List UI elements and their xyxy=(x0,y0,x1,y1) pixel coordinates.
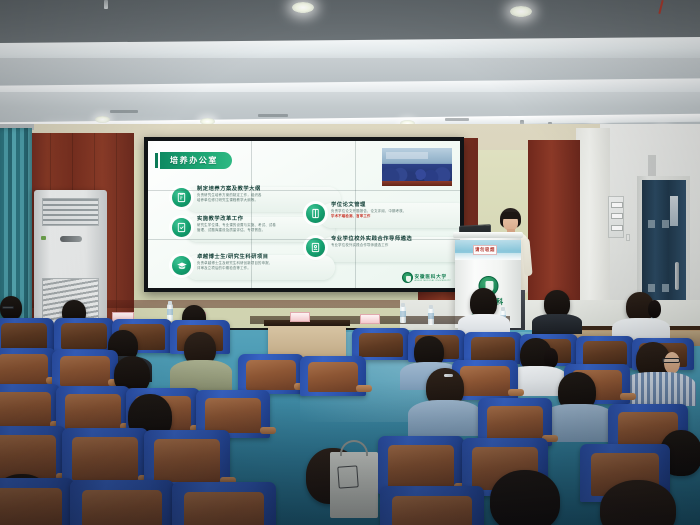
door-plate xyxy=(648,220,655,228)
auditorium-seat[interactable] xyxy=(0,348,56,388)
audience-shoulders xyxy=(620,372,696,406)
ceiling-vent xyxy=(110,110,138,113)
seat-pad xyxy=(0,488,62,525)
bullet-heading: 卓越博士生/研究生科研项目 xyxy=(197,254,272,261)
ac-top-grille xyxy=(42,198,99,226)
seat-pad xyxy=(184,492,263,525)
door-plate xyxy=(662,284,669,292)
bullet-subline-highlight: 学术不端检测、盲审工作 xyxy=(331,214,406,219)
auditorium-seat[interactable] xyxy=(352,328,410,360)
audience-shoulders xyxy=(170,360,232,390)
lecture-hall-photo: 培养办公室 xyxy=(0,0,700,525)
audience-shoulders xyxy=(532,314,582,334)
bullet-text: 实施教学改革工作 研究生学位课、专业课的设置与实施、考试、试卷 管理、试题库建设… xyxy=(197,215,276,232)
university-emblem-icon xyxy=(402,272,413,283)
seat-pad xyxy=(0,435,56,478)
seat-pad xyxy=(60,356,110,386)
bag-logo xyxy=(337,465,358,488)
clipboard-pen-icon xyxy=(172,188,191,207)
seat-pad xyxy=(154,439,219,482)
bullet-subline: 管理、试题库建设及质量评估、专项督查。 xyxy=(197,228,276,233)
audience-shoulders xyxy=(408,400,482,436)
hair-clip xyxy=(444,374,453,377)
logo-name-cn: 安徽医科大学 xyxy=(415,274,451,280)
ceiling-vent xyxy=(258,114,288,117)
thesis-book-icon xyxy=(306,204,325,223)
slide-university-logo: 安徽医科大学 ANHUI MEDICAL UNIVERSITY xyxy=(402,272,451,283)
seat-pad xyxy=(471,337,515,361)
led-video-wall[interactable]: 培养办公室 xyxy=(144,137,464,292)
seat-pad xyxy=(0,392,51,428)
presenter-bangs xyxy=(501,212,520,219)
seat-armrest xyxy=(260,427,276,434)
table-tent-card xyxy=(290,312,310,322)
bullet-text: 专业学位校外实践合作导师遴选 专业学位校外实践合作导师遴选工作 xyxy=(331,235,412,248)
seat-pad xyxy=(583,341,627,365)
seat-pad xyxy=(61,323,107,348)
table-tent-card xyxy=(360,314,380,324)
document-check-icon xyxy=(172,218,191,237)
breaker-row xyxy=(611,202,623,208)
seat-pad xyxy=(308,362,358,392)
video-wall-seam xyxy=(251,141,252,288)
auditorium-seat[interactable] xyxy=(0,318,54,352)
sprinkler-head-icon xyxy=(104,0,108,9)
door-plate xyxy=(648,284,655,292)
glasses-icon xyxy=(2,306,14,309)
ceiling-downlight-icon xyxy=(292,2,314,13)
bullet-subline: 专业学位校外实践合作导师遴选工作 xyxy=(331,243,412,248)
slide-title-banner: 培养办公室 xyxy=(160,152,232,169)
seat-pad xyxy=(388,445,453,488)
seat-pad xyxy=(460,366,510,396)
logo-text-group: 安徽医科大学 ANHUI MEDICAL UNIVERSITY xyxy=(415,274,451,282)
ceiling-downlight-icon xyxy=(510,6,532,17)
seat-pad xyxy=(392,496,471,525)
seat-pad xyxy=(72,437,137,480)
ponytail xyxy=(544,348,558,368)
bullet-heading: 学位论文管理 xyxy=(331,202,406,209)
water-bottle[interactable] xyxy=(167,304,173,321)
logo-name-en: ANHUI MEDICAL UNIVERSITY xyxy=(415,280,451,282)
bullet-subline: 评审及立项后的中期检查等工作。 xyxy=(197,266,272,271)
seat-pad xyxy=(0,354,48,384)
mentor-badge-icon xyxy=(306,238,325,257)
auditorium-seat[interactable] xyxy=(172,482,276,525)
video-wall-seam xyxy=(355,141,356,288)
door-plate xyxy=(662,220,669,228)
slide-photo-thumbnail xyxy=(382,148,452,186)
slide-bullet-1: 制定培养方案及教学大纲 负责研究生培养方案的制定工作，组织各 培养单位修订研究生… xyxy=(172,185,262,207)
water-bottle[interactable] xyxy=(428,308,434,325)
auditorium-seat[interactable] xyxy=(52,350,118,390)
auditorium-seat[interactable] xyxy=(70,480,174,525)
ac-power-led-icon xyxy=(41,236,46,240)
seat-pad xyxy=(246,360,296,390)
ponytail xyxy=(648,300,661,318)
auditorium-seat[interactable] xyxy=(238,354,304,394)
auditorium-seat[interactable] xyxy=(62,428,148,486)
slide-bullet-2: 实施教学改革工作 研究生学位课、专业课的设置与实施、考试、试卷 管理、试题库建设… xyxy=(172,215,276,237)
seat-pad xyxy=(1,323,47,348)
graduation-cap-icon xyxy=(172,256,191,275)
auditorium-seat[interactable] xyxy=(56,386,130,434)
photo-stage xyxy=(382,181,452,186)
seat-pad xyxy=(487,406,543,442)
bullet-heading: 实施教学改革工作 xyxy=(197,216,276,223)
photo-banner xyxy=(386,152,428,159)
seat-armrest xyxy=(508,389,524,396)
screen-surface: 培养办公室 xyxy=(148,141,460,288)
auditorium-seat[interactable] xyxy=(300,356,366,396)
highlight-text: 学术不端检测、盲审工作 xyxy=(331,214,371,218)
electrical-panel[interactable] xyxy=(608,196,624,238)
seat-pad xyxy=(82,490,161,525)
slide-title: 培养办公室 xyxy=(170,155,218,166)
video-wall-seam xyxy=(148,190,460,191)
bullet-text: 卓越博士生/研究生科研项目 负责卓越博士生及研究生科研创新项目的申报、 评审及立… xyxy=(197,253,272,270)
breaker-row xyxy=(611,225,623,231)
seat-pad xyxy=(359,333,403,357)
wall-socket[interactable] xyxy=(626,234,630,241)
video-wall-seam xyxy=(148,239,460,240)
presentation-slide: 培养办公室 xyxy=(148,141,460,288)
seat-armrest xyxy=(356,385,372,392)
auditorium-seat[interactable] xyxy=(54,318,114,352)
bullet-subline: 研究生学位课、专业课的设置与实施、考试、试卷 xyxy=(197,223,276,228)
tote-bag[interactable] xyxy=(330,452,378,518)
audience-face-profile xyxy=(664,352,680,374)
glasses-icon xyxy=(662,358,680,363)
ceiling-downlight-icon xyxy=(95,116,110,123)
door-glass-panel xyxy=(670,196,678,226)
breaker-row xyxy=(611,213,623,219)
ac-brand-logo xyxy=(60,236,82,242)
seat-pad xyxy=(205,398,261,434)
bullet-subline: 负责卓越博士生及研究生科研创新项目的申报、 xyxy=(197,261,272,266)
seat-armrest xyxy=(620,393,636,400)
name-card-text: 请勿吸烟 xyxy=(475,247,495,253)
auditorium-seat[interactable] xyxy=(0,478,74,525)
ceiling-vent xyxy=(445,118,469,121)
auditorium-seat[interactable] xyxy=(0,384,60,432)
audience-head xyxy=(490,470,560,525)
water-bottle[interactable] xyxy=(400,306,406,323)
bullet-text: 学位论文管理 负责学位论文开题报告、论文评阅、中期考核、 学术不端检测、盲审工作 xyxy=(331,201,406,218)
slide-bullet-5: 卓越博士生/研究生科研项目 负责卓越博士生及研究生科研创新项目的申报、 评审及立… xyxy=(172,253,272,275)
podium-top-surface xyxy=(453,232,523,238)
podium-name-card: 请勿吸烟 xyxy=(473,245,497,255)
door-handle[interactable] xyxy=(675,262,679,290)
seat-pad xyxy=(65,394,121,430)
auditorium-seat[interactable] xyxy=(380,486,484,525)
